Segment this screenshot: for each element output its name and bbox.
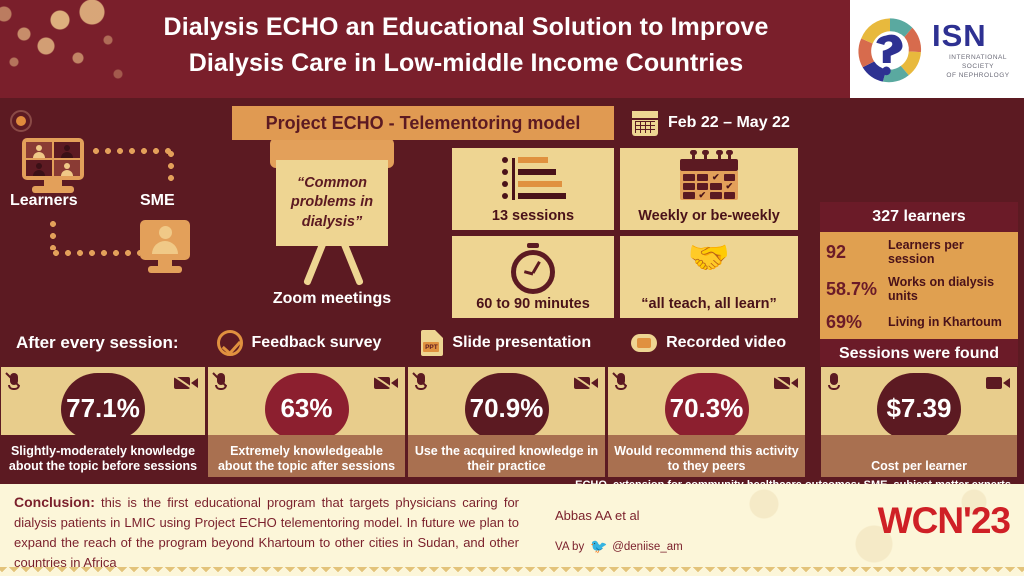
outcome-value: 70.9%: [408, 393, 605, 424]
flow-line-left: [50, 218, 56, 250]
stat-row: 58.7% Works on dialysis units: [820, 271, 1018, 308]
outcome-caption: Use the acquired knowledge in their prac…: [408, 444, 605, 474]
conclusion-label: Conclusion:: [14, 494, 95, 510]
learners-label: Learners: [10, 192, 78, 210]
flow-line-top: [90, 148, 174, 154]
zoom-meetings-easel: “Common problems in dialysis”: [262, 138, 402, 308]
bullet-list-icon: [500, 156, 566, 202]
card-sessions: 13 sessions: [452, 148, 614, 230]
title-line-2: Dialysis Care in Low-middle Income Count…: [96, 46, 836, 82]
poster-header: Dialysis ECHO an Educational Solution to…: [0, 0, 1024, 98]
stats-learners-heading: 327 learners: [820, 202, 1018, 232]
camera-off-icon: [374, 375, 398, 391]
stat-row: 69% Living in Khartoum: [820, 308, 1018, 337]
after-item-slides: PPT Slide presentation: [421, 330, 591, 356]
flow-line-right: [168, 148, 174, 182]
twitter-bird-icon: 🐦: [590, 540, 606, 553]
after-item-feedback-label: Feedback survey: [252, 334, 382, 352]
zoom-meetings-caption: Zoom meetings: [262, 290, 402, 308]
camera-icon: [986, 375, 1010, 391]
isn-subtitle: INTERNATIONAL SOCIETY OF NEPHROLOGY: [932, 54, 1024, 80]
sme-label: SME: [140, 192, 175, 210]
card-frequency: ✔ ✔ ✔ Weekly or be-weekly: [620, 148, 798, 230]
sme-screen-icon: [140, 220, 190, 260]
easel-leg-left: [303, 241, 327, 286]
outcome-tile: $7.39 Cost per learner: [820, 366, 1018, 478]
calendar-check-icon: ✔ ✔ ✔: [680, 152, 738, 200]
va-prefix: VA by: [555, 541, 584, 553]
easel-quote: “Common problems in dialysis”: [276, 160, 388, 246]
handshake-icon: 🤝: [678, 240, 740, 276]
camera-off-icon: [574, 375, 598, 391]
stats-learners-body: 92 Learners per session 58.7% Works on d…: [820, 232, 1018, 339]
after-session-strip: After every session: Feedback survey PPT…: [0, 322, 812, 364]
mic-muted-icon: [8, 373, 20, 393]
mic-muted-icon: [215, 373, 227, 393]
sme-base: [148, 266, 182, 273]
citation: Abbas AA et al: [555, 508, 640, 523]
visual-abstract-credit: VA by 🐦 @deniise_am: [555, 540, 683, 553]
stopwatch-icon: [506, 244, 560, 294]
footer-zigzag-border: [0, 567, 1024, 576]
date-range-banner: Feb 22 – May 22: [620, 106, 820, 140]
card-sessions-caption: 13 sessions: [492, 208, 574, 230]
check-circle-icon: [217, 330, 243, 356]
infographic-poster: Dialysis ECHO an Educational Solution to…: [0, 0, 1024, 576]
outcome-tile: 70.9% Use the acquired knowledge in thei…: [407, 366, 606, 478]
after-item-feedback: Feedback survey: [217, 330, 382, 356]
outcome-value: 70.3%: [608, 393, 805, 424]
outcome-caption: Cost per learner: [821, 459, 1017, 474]
outcome-caption: Would recommend this activity to they pe…: [608, 444, 805, 474]
stats-sessions-heading: Sessions were found: [820, 339, 1018, 369]
video-icon: [631, 334, 657, 352]
stat-label: Learners per session: [888, 238, 1010, 267]
card-duration: 60 to 90 minutes: [452, 236, 614, 318]
stat-value: 69%: [826, 312, 882, 333]
learners-screen-icon: [22, 138, 84, 180]
outcome-caption: Extremely knowledgeable about the topic …: [208, 444, 405, 474]
mic-muted-icon: [415, 373, 427, 393]
stat-row: 92 Learners per session: [820, 234, 1018, 271]
mic-muted-icon: [615, 373, 627, 393]
isn-logo: ISN INTERNATIONAL SOCIETY OF NEPHROLOGY: [850, 0, 1024, 98]
outcome-value: 77.1%: [1, 393, 205, 424]
page-title: Dialysis ECHO an Educational Solution to…: [96, 10, 836, 81]
date-range-text: Feb 22 – May 22: [668, 114, 790, 132]
outcome-tile: 77.1% Slightly-moderately knowledge abou…: [0, 366, 206, 478]
calendar-icon: [632, 111, 658, 136]
outcome-tiles: 77.1% Slightly-moderately knowledge abou…: [0, 366, 1024, 478]
stat-value: 92: [826, 242, 882, 263]
easel-leg-right: [340, 241, 364, 286]
isn-wordmark: ISN INTERNATIONAL SOCIETY OF NEPHROLOGY: [932, 20, 1024, 80]
conclusion-text: Conclusion: this is the first educationa…: [14, 492, 519, 573]
wcn-logo: WCN'23: [878, 502, 1010, 539]
card-duration-caption: 60 to 90 minutes: [476, 296, 590, 318]
ppt-file-icon: PPT: [421, 330, 443, 356]
stat-value: 58.7%: [826, 279, 882, 300]
card-motto-caption: “all teach, all learn”: [641, 296, 776, 318]
after-session-label: After every session:: [16, 333, 179, 353]
poster-body: Learners SME “Common problems in dialysi…: [0, 98, 1024, 484]
mic-icon: [828, 373, 840, 393]
outcome-value: 63%: [208, 393, 405, 424]
stat-label: Living in Khartoum: [888, 315, 1002, 329]
title-line-1: Dialysis ECHO an Educational Solution to…: [96, 10, 836, 46]
after-item-video-label: Recorded video: [666, 334, 786, 352]
isn-globe-icon: [854, 14, 926, 86]
stat-label: Works on dialysis units: [888, 275, 1010, 304]
card-frequency-caption: Weekly or be-weekly: [638, 208, 780, 230]
outcome-value: $7.39: [821, 393, 1017, 424]
outcome-tile: 70.3% Would recommend this activity to t…: [607, 366, 806, 478]
va-handle[interactable]: @deniise_am: [612, 541, 683, 553]
isn-name: ISN: [932, 20, 1024, 51]
telementoring-diagram: Learners SME: [0, 120, 228, 310]
after-item-video: Recorded video: [631, 334, 786, 352]
camera-off-icon: [174, 375, 198, 391]
after-item-slides-label: Slide presentation: [452, 334, 591, 352]
camera-off-icon: [774, 375, 798, 391]
flow-line-bottom: [50, 250, 140, 256]
card-motto: 🤝 “all teach, all learn”: [620, 236, 798, 318]
project-echo-banner: Project ECHO - Telementoring model: [232, 106, 614, 140]
outcome-caption: Slightly-moderately knowledge about the …: [1, 444, 205, 474]
outcome-tile: 63% Extremely knowledgeable about the to…: [207, 366, 406, 478]
poster-footer: Conclusion: this is the first educationa…: [0, 484, 1024, 576]
